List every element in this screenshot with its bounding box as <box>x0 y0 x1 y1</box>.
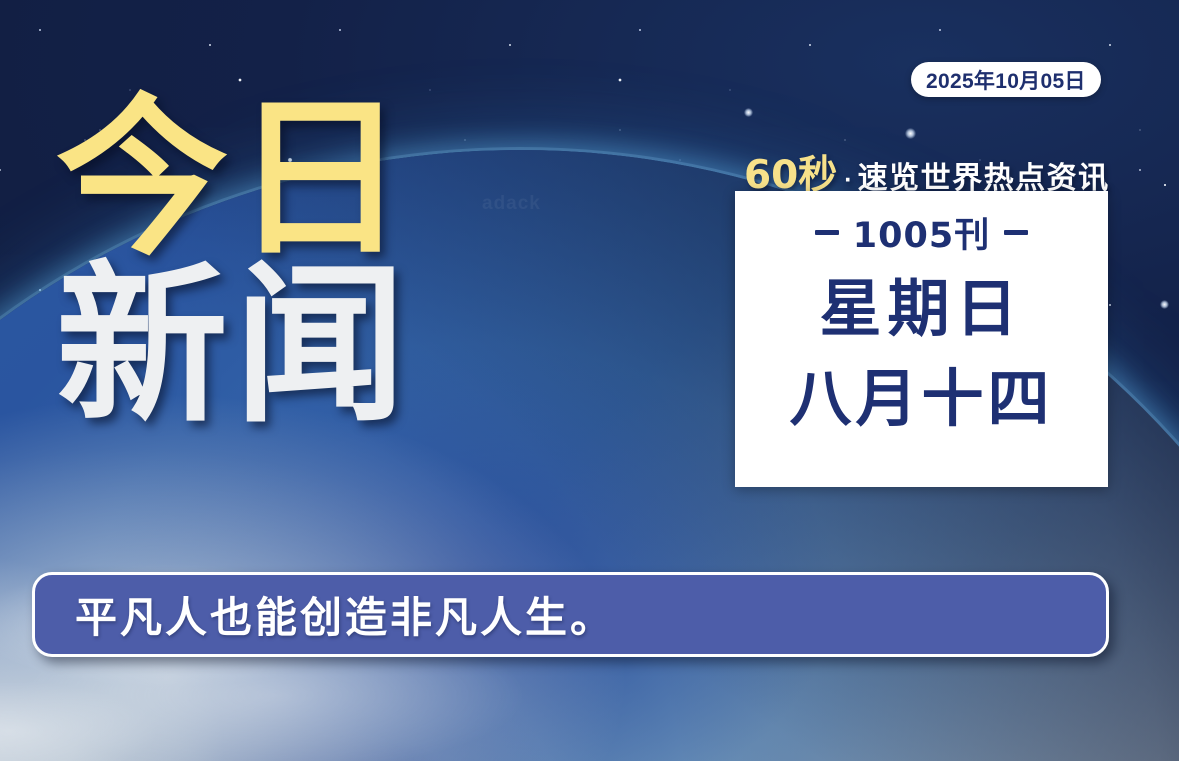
dash-left-icon <box>815 230 839 235</box>
quote-banner: 平凡人也能创造非凡人生。 <box>32 572 1109 657</box>
date-badge-label: 2025年10月05日 <box>926 65 1086 95</box>
dash-right-icon <box>1004 230 1028 235</box>
calendar-card: 1005刊 星期日 八月十四 <box>735 191 1108 487</box>
bright-star-icon <box>905 128 916 139</box>
bright-star-icon <box>744 108 753 117</box>
weekday-label: 星期日 <box>819 278 1023 340</box>
lunar-date-label: 八月十四 <box>789 368 1053 430</box>
page-title-line-one: 今日 <box>56 96 412 261</box>
page-title-line-two: 新闻 <box>56 263 412 428</box>
issue-number-label: 1005刊 <box>853 207 990 258</box>
watermark: adack <box>482 193 541 215</box>
quote-text: 平凡人也能创造非凡人生。 <box>75 584 615 645</box>
date-badge: 2025年10月05日 <box>911 62 1101 97</box>
issue-number-row: 1005刊 <box>815 207 1028 258</box>
page-title: 今日 新闻 <box>56 96 412 428</box>
news-poster: adack 今日 新闻 2025年10月05日 60秒 · 速览世界热点资讯 1… <box>0 0 1179 761</box>
